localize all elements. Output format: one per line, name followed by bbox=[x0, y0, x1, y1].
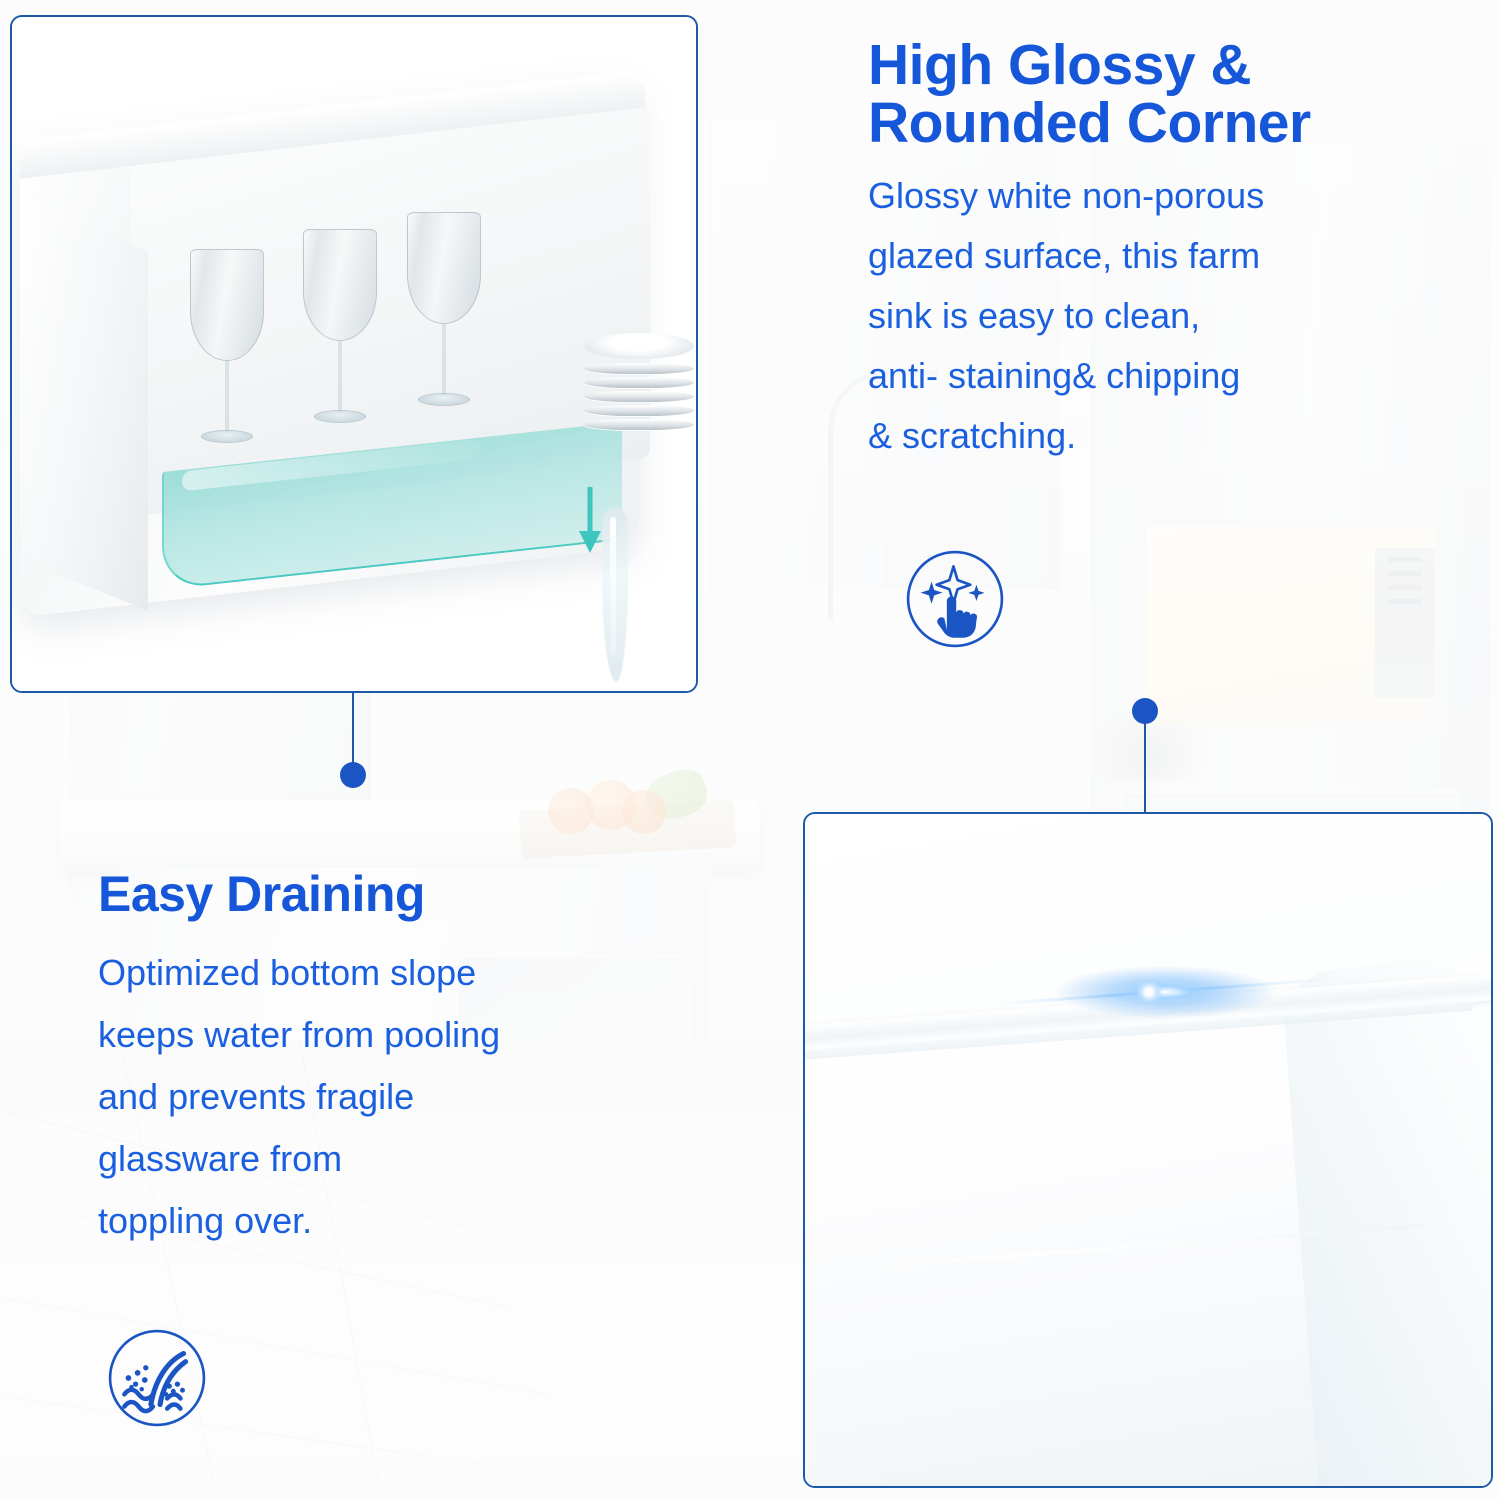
plate bbox=[584, 333, 694, 359]
sink-rounded-corner bbox=[1281, 957, 1493, 1488]
panel-rim-closeup bbox=[803, 812, 1493, 1488]
draining-body: Optimized bottom slope keeps water from … bbox=[98, 942, 698, 1252]
droplet bbox=[126, 1375, 132, 1381]
draining-body-line: keeps water from pooling bbox=[98, 1014, 500, 1055]
droplet bbox=[164, 1392, 168, 1396]
glossy-body-line: glazed surface, this farm bbox=[868, 235, 1260, 276]
droplet bbox=[145, 1396, 149, 1400]
draining-heading: Easy Draining bbox=[98, 866, 698, 922]
wave-right-bottom bbox=[167, 1405, 180, 1409]
droplet bbox=[175, 1381, 180, 1386]
glass-bowl bbox=[303, 229, 377, 341]
wine-glass bbox=[190, 249, 264, 443]
plate bbox=[584, 405, 694, 416]
droplet bbox=[171, 1389, 176, 1394]
plate bbox=[584, 363, 694, 374]
water-drain-flow-icon bbox=[106, 1327, 208, 1429]
droplet bbox=[143, 1365, 148, 1370]
droplet bbox=[180, 1388, 185, 1393]
sink-cutaway-illustration bbox=[12, 17, 696, 691]
droplet bbox=[129, 1385, 133, 1389]
droplet bbox=[133, 1381, 138, 1386]
clean-touch-sparkle-icon bbox=[904, 548, 1006, 650]
draining-body-line: glassware from bbox=[98, 1138, 342, 1179]
sparkle-small-right bbox=[968, 585, 984, 601]
glossy-heading: High Glossy & Rounded Corner bbox=[868, 36, 1468, 152]
droplet bbox=[139, 1387, 143, 1391]
wine-glass bbox=[407, 212, 481, 406]
lens-flare-core bbox=[1135, 982, 1163, 1002]
glossy-body-line: anti- staining& chipping bbox=[868, 355, 1240, 396]
droplet bbox=[142, 1377, 148, 1383]
water-stream-highlight bbox=[610, 517, 616, 657]
sink-front-edge bbox=[20, 199, 148, 611]
plate bbox=[584, 377, 694, 388]
droplet bbox=[135, 1370, 141, 1376]
glossy-body-line: & scratching. bbox=[868, 415, 1076, 456]
wine-glass bbox=[303, 229, 377, 423]
connector-dot-rim-closeup bbox=[1132, 698, 1158, 724]
glass-stem bbox=[338, 341, 342, 413]
draining-body-line: and prevents fragile bbox=[98, 1076, 414, 1117]
glass-foot bbox=[418, 393, 470, 406]
connector-dot-sink-glasses bbox=[340, 762, 366, 788]
droplet bbox=[167, 1384, 172, 1389]
feature-block-glossy: High Glossy & Rounded Corner Glossy whit… bbox=[868, 36, 1468, 466]
glossy-body-line: Glossy white non-porous bbox=[868, 175, 1264, 216]
plate bbox=[584, 419, 694, 430]
glass-foot bbox=[201, 430, 253, 443]
glossy-body: Glossy white non-porous glazed surface, … bbox=[868, 166, 1468, 466]
glossy-heading-line1: High Glossy & bbox=[868, 33, 1251, 97]
plate-stack bbox=[584, 333, 694, 433]
glass-bowl bbox=[407, 212, 481, 324]
connector-line-rim-closeup bbox=[1144, 718, 1146, 814]
glossy-rim-closeup-photo bbox=[805, 814, 1491, 1486]
glossy-body-line: sink is easy to clean, bbox=[868, 295, 1200, 336]
glossy-heading-line2: Rounded Corner bbox=[868, 91, 1311, 155]
blue-lens-flare bbox=[1055, 966, 1275, 1018]
glass-stem bbox=[442, 324, 446, 396]
plate bbox=[584, 391, 694, 402]
glass-bowl bbox=[190, 249, 264, 361]
pointing-hand bbox=[937, 596, 977, 637]
connector-line-sink-glasses bbox=[352, 690, 354, 770]
glass-stem bbox=[225, 361, 229, 433]
glass-foot bbox=[314, 410, 366, 423]
wave-right-top bbox=[167, 1394, 180, 1398]
feature-block-draining: Easy Draining Optimized bottom slope kee… bbox=[98, 866, 698, 1252]
draining-body-line: Optimized bottom slope bbox=[98, 952, 476, 993]
panel-sink-glasses bbox=[10, 15, 698, 693]
draining-body-line: toppling over. bbox=[98, 1200, 312, 1241]
